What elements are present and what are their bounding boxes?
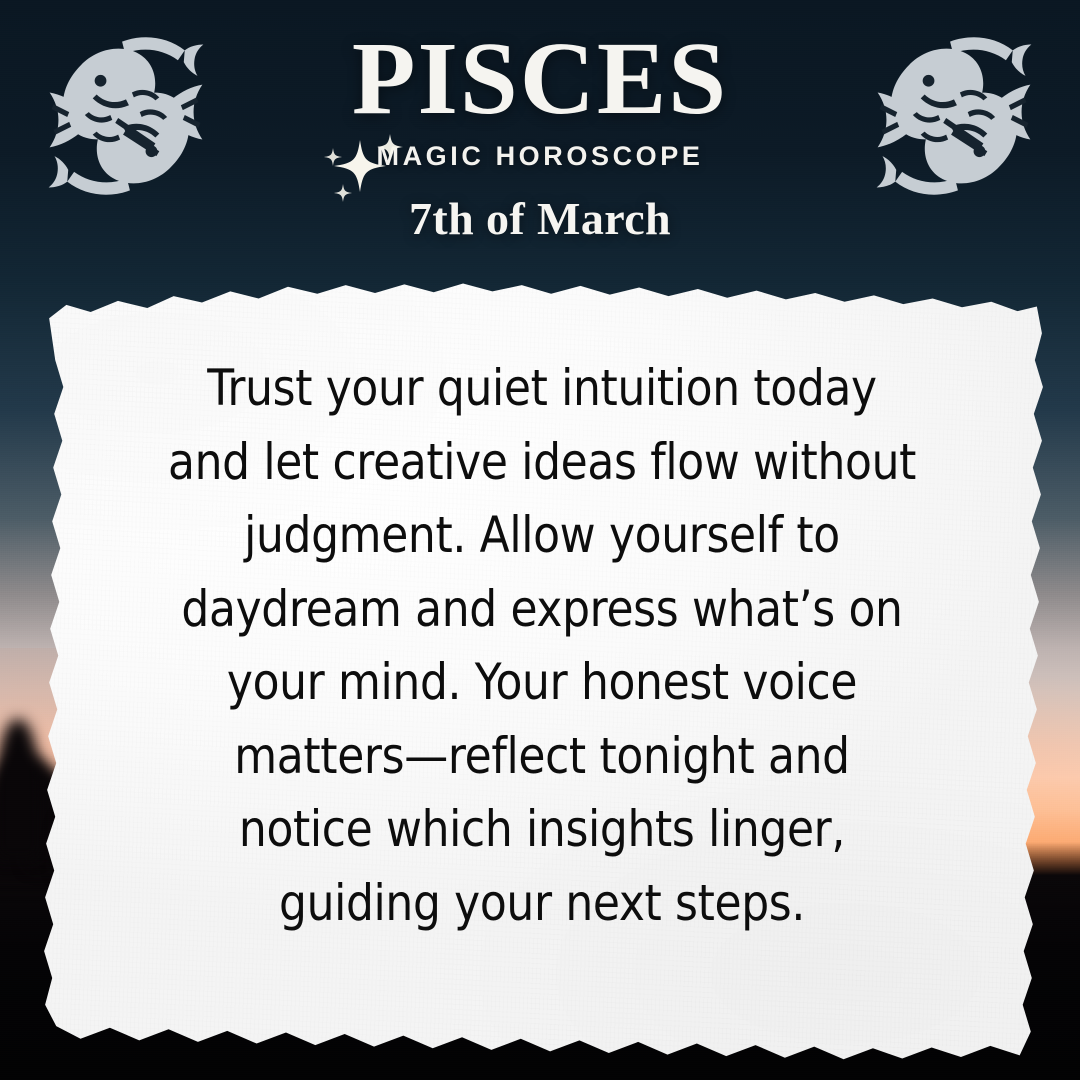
horoscope-card: PISCES MAGIC HOROSCOPE [0, 0, 1080, 1080]
header: PISCES MAGIC HOROSCOPE [0, 0, 1080, 270]
zodiac-sign-title: PISCES [0, 0, 1080, 130]
tree-silhouette [0, 719, 40, 859]
horoscope-date: 7th of March [0, 192, 1080, 245]
brand-row: MAGIC HOROSCOPE [0, 136, 1080, 178]
torn-paper-card: Trust your quiet intuition today and let… [36, 278, 1048, 1068]
sparkle-stars-icon [316, 130, 436, 212]
horoscope-text: Trust your quiet intuition today and let… [162, 352, 922, 940]
